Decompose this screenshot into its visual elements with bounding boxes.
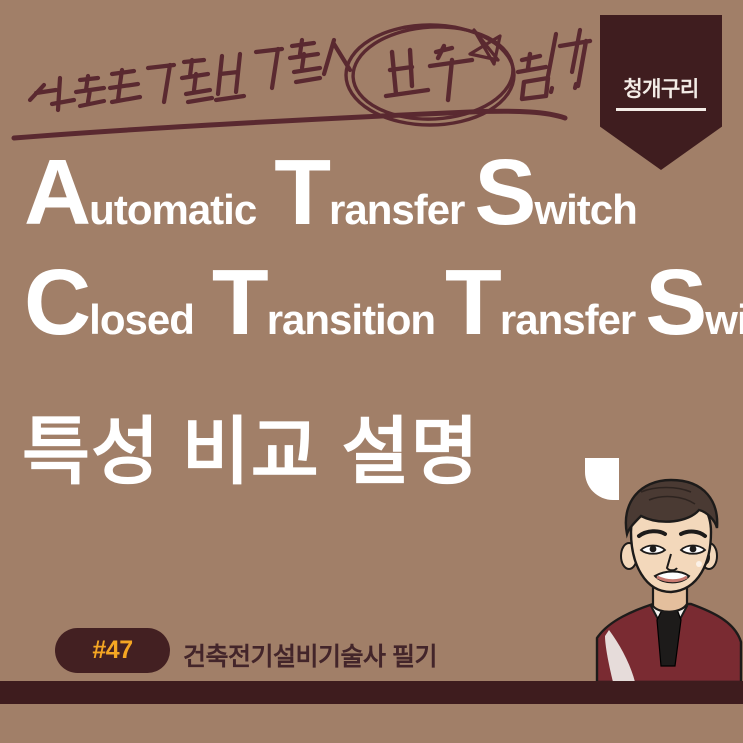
channel-ribbon: 청개구리: [600, 15, 722, 170]
footer-subtitle: 건축전기설비기술사 필기: [183, 637, 437, 673]
dropcap-a: A: [24, 140, 89, 244]
episode-number-badge: #47: [55, 628, 170, 673]
hand-drawn-oval-icon: [346, 23, 515, 125]
acronym-word-switch: witch: [534, 186, 636, 233]
acronym-word-transition: ransition: [267, 296, 435, 343]
dropcap-t2: T: [445, 250, 500, 354]
bottom-bar: [0, 681, 743, 704]
acronym-word-automatic: utomatic: [89, 186, 256, 233]
acronym-word-transfer: ransfer: [329, 186, 464, 233]
episode-number-label: #47: [55, 628, 170, 673]
page-title: 특성 비교 설명: [22, 392, 480, 499]
dropcap-s2: S: [645, 250, 705, 354]
poster-card: 청개구리 AutomaticTransferSwitch ClosedTrans…: [0, 0, 743, 743]
ribbon-divider: [616, 108, 706, 111]
dropcap-c: C: [24, 250, 89, 354]
acronym-word-switch-2: witch: [705, 296, 743, 343]
acronym-line-ctts: ClosedTransitionTransferSwitch: [24, 296, 743, 344]
avatar: [595, 470, 743, 682]
dropcap-t1: T: [212, 250, 267, 354]
dropcap-t: T: [274, 140, 329, 244]
acronym-word-transfer-2: ransfer: [500, 296, 635, 343]
acronym-line-ats: AutomaticTransferSwitch: [24, 186, 637, 234]
dropcap-s: S: [474, 140, 534, 244]
ribbon-label: 청개구리: [600, 73, 722, 103]
acronym-word-closed: losed: [89, 296, 194, 343]
